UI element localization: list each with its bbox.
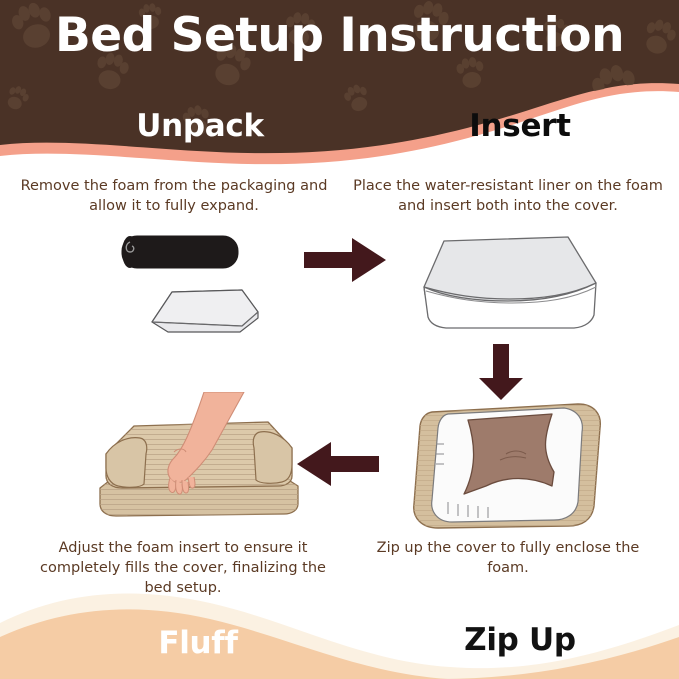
zipped-pet-bed-illustration [402, 398, 610, 532]
arrow-left-zipup-to-fluff [293, 438, 383, 490]
rolled-foam-and-liner-illustration [108, 232, 288, 344]
step-caption-unpack: Remove the foam from the packaging and a… [18, 176, 330, 216]
step-caption-zipup: Zip up the cover to fully enclose the fo… [358, 538, 658, 578]
liner-sheet-icon [152, 290, 258, 332]
foam-with-liner-illustration [418, 225, 604, 345]
rolled-foam-icon [122, 236, 238, 268]
poster-canvas: Bed Setup Instruction Unpack Insert Remo… [0, 0, 679, 679]
arrow-right-unpack-to-insert [300, 234, 390, 286]
step-label-unpack: Unpack [60, 108, 340, 144]
page-title: Bed Setup Instruction [0, 8, 679, 63]
arrow-down-insert-to-zipup [473, 342, 529, 402]
step-label-insert: Insert [380, 108, 660, 144]
step-caption-fluff: Adjust the foam insert to ensure it comp… [28, 538, 338, 598]
hand-fluffing-bed-illustration [92, 392, 308, 532]
step-label-fluff: Fluff [58, 625, 338, 661]
step-caption-insert: Place the water-resistant liner on the f… [352, 176, 664, 216]
step-label-zipup: Zip Up [380, 622, 660, 658]
